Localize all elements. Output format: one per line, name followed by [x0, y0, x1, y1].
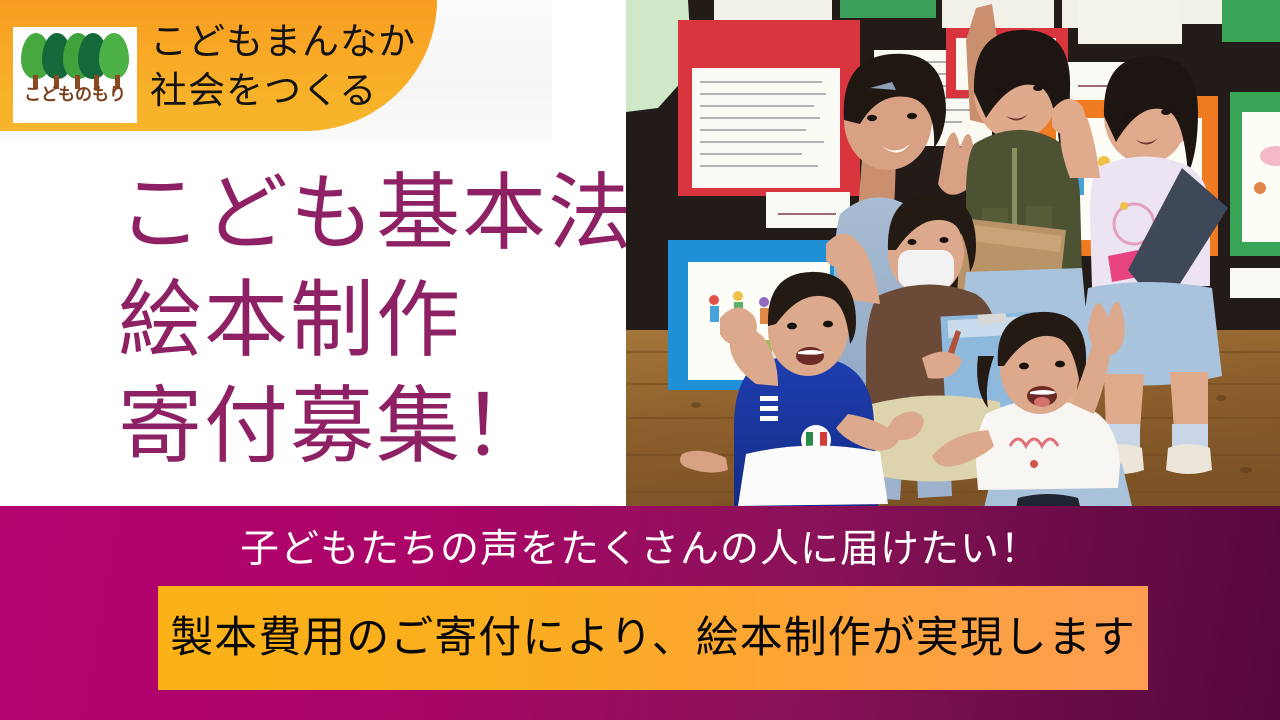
header-tagline-line2: 社会をつくる	[150, 67, 420, 116]
donation-callout-box: 製本費用のご寄付により、絵本制作が実現します	[158, 586, 1148, 690]
donation-callout-text: 製本費用のご寄付により、絵本制作が実現します	[170, 617, 1135, 660]
title-line-1: こども基本法	[118, 160, 628, 267]
banner-headline: 子どもたちの声をたくさんの人に届けたい！	[0, 530, 1280, 569]
page-title: こども基本法 絵本制作 寄付募集！	[118, 160, 628, 480]
header-tagline-line1: こどもまんなか	[150, 18, 420, 67]
logo-caption: こどものもり	[13, 87, 137, 104]
kodomonomori-logo: こどものもり	[13, 27, 137, 123]
title-line-3: 寄付募集！	[118, 373, 628, 480]
header-tagline: こどもまんなか 社会をつくる	[150, 18, 420, 116]
donation-poster: こどものもり こどもまんなか 社会をつくる こども基本法 絵本制作 寄付募集！	[0, 0, 1280, 720]
logo-trees-icon	[21, 33, 129, 89]
event-photo	[626, 0, 1280, 506]
title-line-2: 絵本制作	[118, 267, 628, 374]
header-banner: こどものもり こどもまんなか 社会をつくる	[0, 0, 437, 131]
